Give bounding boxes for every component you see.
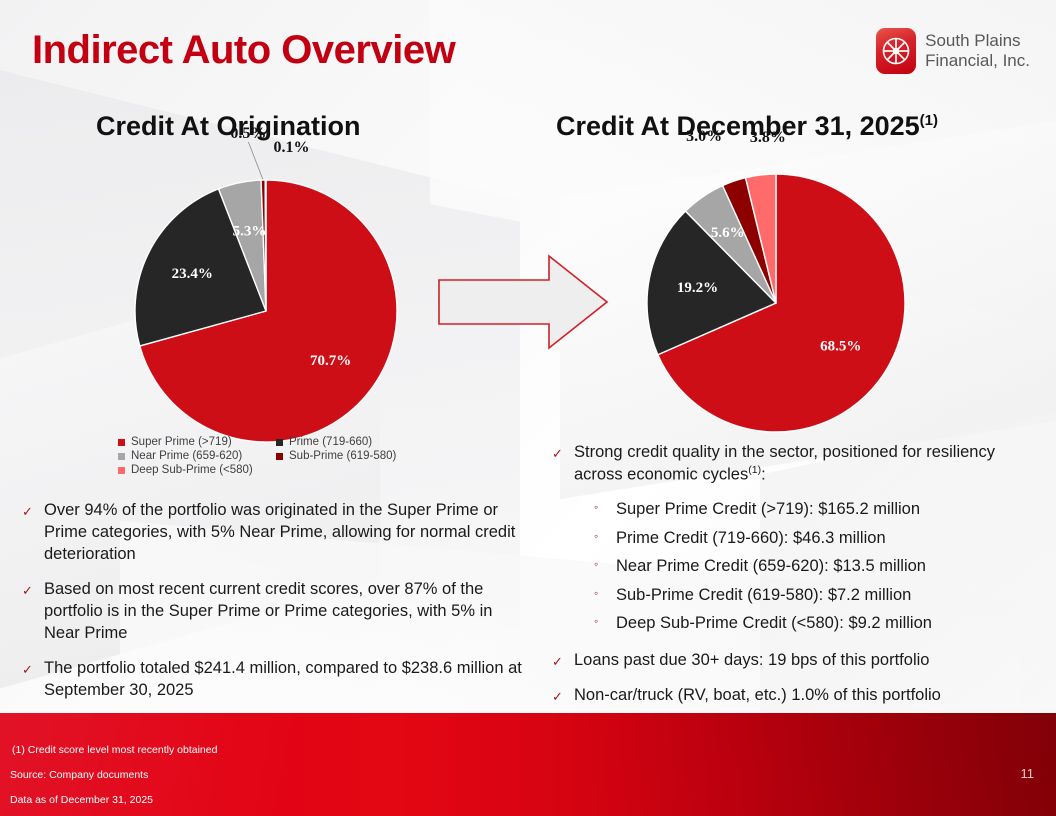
legend-swatch-icon	[276, 453, 283, 460]
chart-heading-right-footnote: (1)	[920, 112, 938, 129]
chart-heading-right: Credit At December 31, 2025(1)	[556, 111, 938, 142]
pie-slice-label: 68.5%	[820, 338, 861, 354]
slide-root: Indirect Auto Overview South Plains	[0, 0, 1056, 816]
legend-item-sub-prime: Sub-Prime (619-580)	[276, 450, 428, 462]
legend-swatch-icon	[118, 439, 125, 446]
chart-heading-left-text: Credit At Origination	[96, 111, 361, 141]
bullet-intro-text: Strong credit quality in the sector, pos…	[574, 443, 995, 483]
logo-line-2: Financial, Inc.	[925, 51, 1030, 71]
footer-footnote: (1) Credit score level most recently obt…	[12, 744, 217, 756]
pie-slice-label: 0.1%	[274, 139, 310, 156]
legend-item-super-prime: Super Prime (>719)	[118, 436, 276, 448]
bullet-list-left: ✓ Over 94% of the portfolio was originat…	[22, 500, 532, 702]
bullet-item: ✓ Over 94% of the portfolio was originat…	[22, 500, 532, 566]
bullet-text: Based on most recent current credit scor…	[44, 579, 532, 645]
logo-line-1: South Plains	[925, 31, 1030, 51]
page-title: Indirect Auto Overview	[32, 28, 455, 73]
legend-swatch-icon	[118, 467, 125, 474]
circle-bullet-icon: ◦	[594, 528, 603, 545]
pie-slice-label: 19.2%	[677, 280, 718, 296]
sub-bullet-item: ◦ Sub-Prime Credit (619-580): $7.2 milli…	[594, 585, 1042, 606]
pie-slice-label: 0.5%	[230, 125, 266, 142]
bullet-text: The portfolio totaled $241.4 million, co…	[44, 658, 532, 702]
pie-slice-label: 5.3%	[233, 224, 267, 240]
pie-chart-december: 68.5%19.2%5.6%3.0%3.8%	[635, 162, 925, 442]
bullet-item: ✓ The portfolio totaled $241.4 million, …	[22, 658, 532, 702]
check-icon: ✓	[22, 500, 35, 521]
legend-swatch-icon	[118, 453, 125, 460]
legend-item-deep-sub-prime: Deep Sub-Prime (<580)	[118, 464, 276, 476]
footer-data-as-of: Data as of December 31, 2025	[10, 794, 153, 806]
legend-label: Sub-Prime (619-580)	[289, 450, 396, 462]
pie-slice	[265, 180, 266, 311]
circle-bullet-icon: ◦	[594, 556, 603, 573]
check-icon: ✓	[552, 685, 565, 706]
sub-bullet-item: ◦ Prime Credit (719-660): $46.3 million	[594, 528, 1042, 549]
sub-bullet-item: ◦ Super Prime Credit (>719): $165.2 mill…	[594, 499, 1042, 520]
legend-label: Super Prime (>719)	[131, 436, 232, 448]
pie-slice-label: 3.0%	[686, 128, 722, 145]
bullet-text: Non-car/truck (RV, boat, etc.) 1.0% of t…	[574, 685, 941, 707]
legend-label: Near Prime (659-620)	[131, 450, 242, 462]
footer-source: Source: Company documents	[10, 769, 148, 781]
bullet-text: Loans past due 30+ days: 19 bps of this …	[574, 650, 929, 672]
legend-item-near-prime: Near Prime (659-620)	[118, 450, 276, 462]
sub-bullet-item: ◦ Deep Sub-Prime Credit (<580): $9.2 mil…	[594, 613, 1042, 634]
company-logo: South Plains Financial, Inc.	[876, 28, 1030, 74]
legend-item-prime: Prime (719-660)	[276, 436, 428, 448]
sub-bullet-text: Near Prime Credit (659-620): $13.5 milli…	[616, 556, 926, 577]
pie-slice-label: 3.8%	[750, 129, 786, 146]
sub-bullet-item: ◦ Near Prime Credit (659-620): $13.5 mil…	[594, 556, 1042, 577]
pie-slice-label: 70.7%	[310, 353, 351, 369]
sub-bullet-text: Super Prime Credit (>719): $165.2 millio…	[616, 499, 920, 520]
pie-chart-origination: 70.7%23.4%5.3%0.5%0.1%	[125, 170, 415, 450]
page-number: 11	[1021, 766, 1035, 781]
bullet-item: ✓ Non-car/truck (RV, boat, etc.) 1.0% of…	[552, 685, 1042, 707]
bullet-list-right: ✓ Strong credit quality in the sector, p…	[552, 442, 1042, 706]
check-icon: ✓	[552, 650, 565, 671]
bullet-intro-footnote: (1)	[748, 464, 761, 476]
right-arrow-icon	[437, 252, 609, 352]
sub-bullet-text: Deep Sub-Prime Credit (<580): $9.2 milli…	[616, 613, 932, 634]
circle-bullet-icon: ◦	[594, 613, 603, 630]
south-plains-wheel-icon	[876, 28, 916, 74]
bullet-item: ✓ Based on most recent current credit sc…	[22, 579, 532, 645]
legend-label: Deep Sub-Prime (<580)	[131, 464, 253, 476]
bullet-text: Strong credit quality in the sector, pos…	[574, 442, 1042, 486]
slide-footer: (1) Credit score level most recently obt…	[0, 713, 1056, 816]
sub-bullet-text: Prime Credit (719-660): $46.3 million	[616, 528, 886, 549]
bullet-item-intro: ✓ Strong credit quality in the sector, p…	[552, 442, 1042, 486]
bullet-text: Over 94% of the portfolio was originated…	[44, 500, 532, 566]
sub-bullet-text: Sub-Prime Credit (619-580): $7.2 million	[616, 585, 911, 606]
check-icon: ✓	[22, 579, 35, 600]
circle-bullet-icon: ◦	[594, 585, 603, 602]
legend-label: Prime (719-660)	[289, 436, 372, 448]
pie-chart-origination-svg: 70.7%23.4%5.3%0.5%0.1%	[125, 170, 415, 450]
bullet-intro-suffix: :	[761, 465, 766, 483]
check-icon: ✓	[22, 658, 35, 679]
sub-bullet-list: ◦ Super Prime Credit (>719): $165.2 mill…	[594, 499, 1042, 634]
bullet-item: ✓ Loans past due 30+ days: 19 bps of thi…	[552, 650, 1042, 672]
chart-legend: Super Prime (>719) Prime (719-660) Near …	[118, 436, 428, 476]
legend-swatch-icon	[276, 439, 283, 446]
logo-text: South Plains Financial, Inc.	[925, 31, 1030, 71]
check-icon: ✓	[552, 442, 565, 463]
pie-slice-label: 5.6%	[711, 225, 745, 241]
chart-heading-right-text: Credit At December 31, 2025	[556, 111, 920, 141]
pie-slice-label: 23.4%	[172, 266, 213, 282]
chart-heading-left: Credit At Origination	[96, 111, 361, 142]
circle-bullet-icon: ◦	[594, 499, 603, 516]
pie-chart-december-svg: 68.5%19.2%5.6%3.0%3.8%	[635, 162, 925, 442]
